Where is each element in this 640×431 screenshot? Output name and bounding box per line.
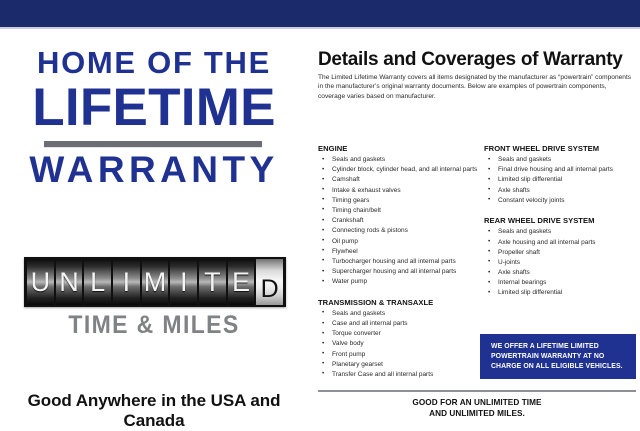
list-item: Constant velocity joints	[484, 197, 636, 206]
odometer-cell: T	[199, 259, 226, 305]
list-item: Flywheel	[318, 248, 480, 257]
list-item: Crankshaft	[318, 217, 480, 226]
list-item: Seals and gaskets	[484, 228, 636, 237]
list-item: Axle housing and all internal parts	[484, 239, 636, 248]
odometer-cell-char: M	[144, 269, 167, 296]
odometer-cell-char: L	[90, 269, 105, 296]
coverage-section-engine: ENGINE Seals and gaskets Cylinder block,…	[318, 144, 480, 287]
list-item: Timing gears	[318, 197, 480, 206]
list-item: Axle shafts	[484, 187, 636, 196]
odometer-cell-char: I	[123, 269, 131, 296]
list-item: Seals and gaskets	[318, 310, 480, 319]
coverage-section-front-wheel-drive: FRONT WHEEL DRIVE SYSTEM Seals and gaske…	[484, 144, 636, 205]
list-item: Cylinder block, cylinder head, and all i…	[318, 166, 480, 175]
list-item: Oil pump	[318, 238, 480, 247]
list-item: Seals and gaskets	[318, 156, 480, 165]
list-item: Camshaft	[318, 176, 480, 185]
list-item: U-joints	[484, 259, 636, 268]
coverage-list-front-wheel-drive: Seals and gaskets Final drive housing an…	[484, 156, 636, 205]
hero-headline-line-3: WARRANTY	[0, 150, 308, 190]
list-item: Turbocharger housing and all internal pa…	[318, 258, 480, 267]
odometer-cell: L	[84, 259, 111, 305]
list-item: Supercharger housing and all internal pa…	[318, 268, 480, 277]
odometer-cell-char: T	[204, 269, 221, 296]
list-item: Timing chain/belt	[318, 207, 480, 216]
footer-divider-rule	[318, 390, 636, 392]
section-heading-front-wheel-drive: FRONT WHEEL DRIVE SYSTEM	[484, 144, 636, 153]
list-item: Final drive housing and all internal par…	[484, 166, 636, 175]
odometer-cell: I	[170, 259, 197, 305]
list-item: Connecting rods & pistons	[318, 227, 480, 236]
list-item: Limited slip differential	[484, 289, 636, 298]
odometer-cell-rolling: D	[256, 259, 283, 305]
coverage-column-left: ENGINE Seals and gaskets Cylinder block,…	[318, 144, 480, 381]
odometer-cell: N	[56, 259, 83, 305]
list-item: Case and all internal parts	[318, 320, 480, 329]
hero-headline-line-2: LIFETIME	[0, 81, 308, 135]
odometer-cell-char: D	[261, 277, 279, 302]
odometer-cell: U	[27, 259, 54, 305]
top-navy-band	[0, 0, 640, 27]
coverage-column-right: FRONT WHEEL DRIVE SYSTEM Seals and gaske…	[484, 144, 636, 300]
odometer-cell-char: U	[31, 269, 51, 296]
coverage-section-transmission: TRANSMISSION & TRANSAXLE Seals and gaske…	[318, 298, 480, 380]
list-item: Transfer Case and all internal parts	[318, 371, 480, 380]
odometer-cell: I	[113, 259, 140, 305]
footer-statement-line-2: AND UNLIMITED MILES.	[318, 408, 636, 419]
time-and-miles-label: TIME & MILES	[12, 311, 295, 340]
hero-headline-line-1: HOME OF THE	[0, 47, 308, 79]
coverage-list-engine: Seals and gaskets Cylinder block, cylind…	[318, 156, 480, 287]
footer-statement-line-1: GOOD FOR AN UNLIMITED TIME	[318, 397, 636, 408]
no-charge-callout-box: WE OFFER A LIFETIME LIMITED POWERTRAIN W…	[480, 334, 636, 379]
hero-divider-rule	[44, 141, 262, 147]
odometer-graphic: U N L I M I T E D	[24, 257, 286, 307]
list-item: Planetary gearset	[318, 361, 480, 370]
details-title: Details and Coverages of Warranty	[318, 49, 636, 71]
list-item: Limited slip differential	[484, 176, 636, 185]
list-item: Torque converter	[318, 330, 480, 339]
good-anywhere-tagline: Good Anywhere in the USA and Canada	[0, 391, 308, 431]
section-heading-engine: ENGINE	[318, 144, 480, 153]
list-item: Internal bearings	[484, 279, 636, 288]
no-charge-callout-text: WE OFFER A LIFETIME LIMITED POWERTRAIN W…	[491, 342, 636, 372]
list-item: Water pump	[318, 278, 480, 287]
warranty-advertisement: HOME OF THE LIFETIME WARRANTY U N L I M …	[0, 0, 640, 426]
list-item: Valve body	[318, 340, 480, 349]
odometer-cell: E	[228, 259, 255, 305]
coverage-section-rear-wheel-drive: REAR WHEEL DRIVE SYSTEM Seals and gasket…	[484, 216, 636, 298]
coverage-list-rear-wheel-drive: Seals and gaskets Axle housing and all i…	[484, 228, 636, 298]
section-heading-rear-wheel-drive: REAR WHEEL DRIVE SYSTEM	[484, 216, 636, 225]
list-item: Intake & exhaust valves	[318, 187, 480, 196]
list-item: Axle shafts	[484, 269, 636, 278]
odometer-cell-char: E	[232, 269, 250, 296]
odometer-cell-char: N	[59, 269, 79, 296]
list-item: Front pump	[318, 351, 480, 360]
list-item: Seals and gaskets	[484, 156, 636, 165]
left-hero-panel: HOME OF THE LIFETIME WARRANTY U N L I M …	[0, 29, 308, 426]
list-item: Propeller shaft	[484, 249, 636, 258]
right-details-panel: Details and Coverages of Warranty The Li…	[312, 29, 640, 426]
odometer-cell: M	[142, 259, 169, 305]
coverage-list-transmission: Seals and gaskets Case and all internal …	[318, 310, 480, 380]
section-heading-transmission: TRANSMISSION & TRANSAXLE	[318, 298, 480, 307]
odometer-cell-char: I	[180, 269, 188, 296]
details-intro-paragraph: The Limited Lifetime Warranty covers all…	[318, 73, 634, 101]
footer-statement: GOOD FOR AN UNLIMITED TIME AND UNLIMITED…	[318, 397, 636, 419]
